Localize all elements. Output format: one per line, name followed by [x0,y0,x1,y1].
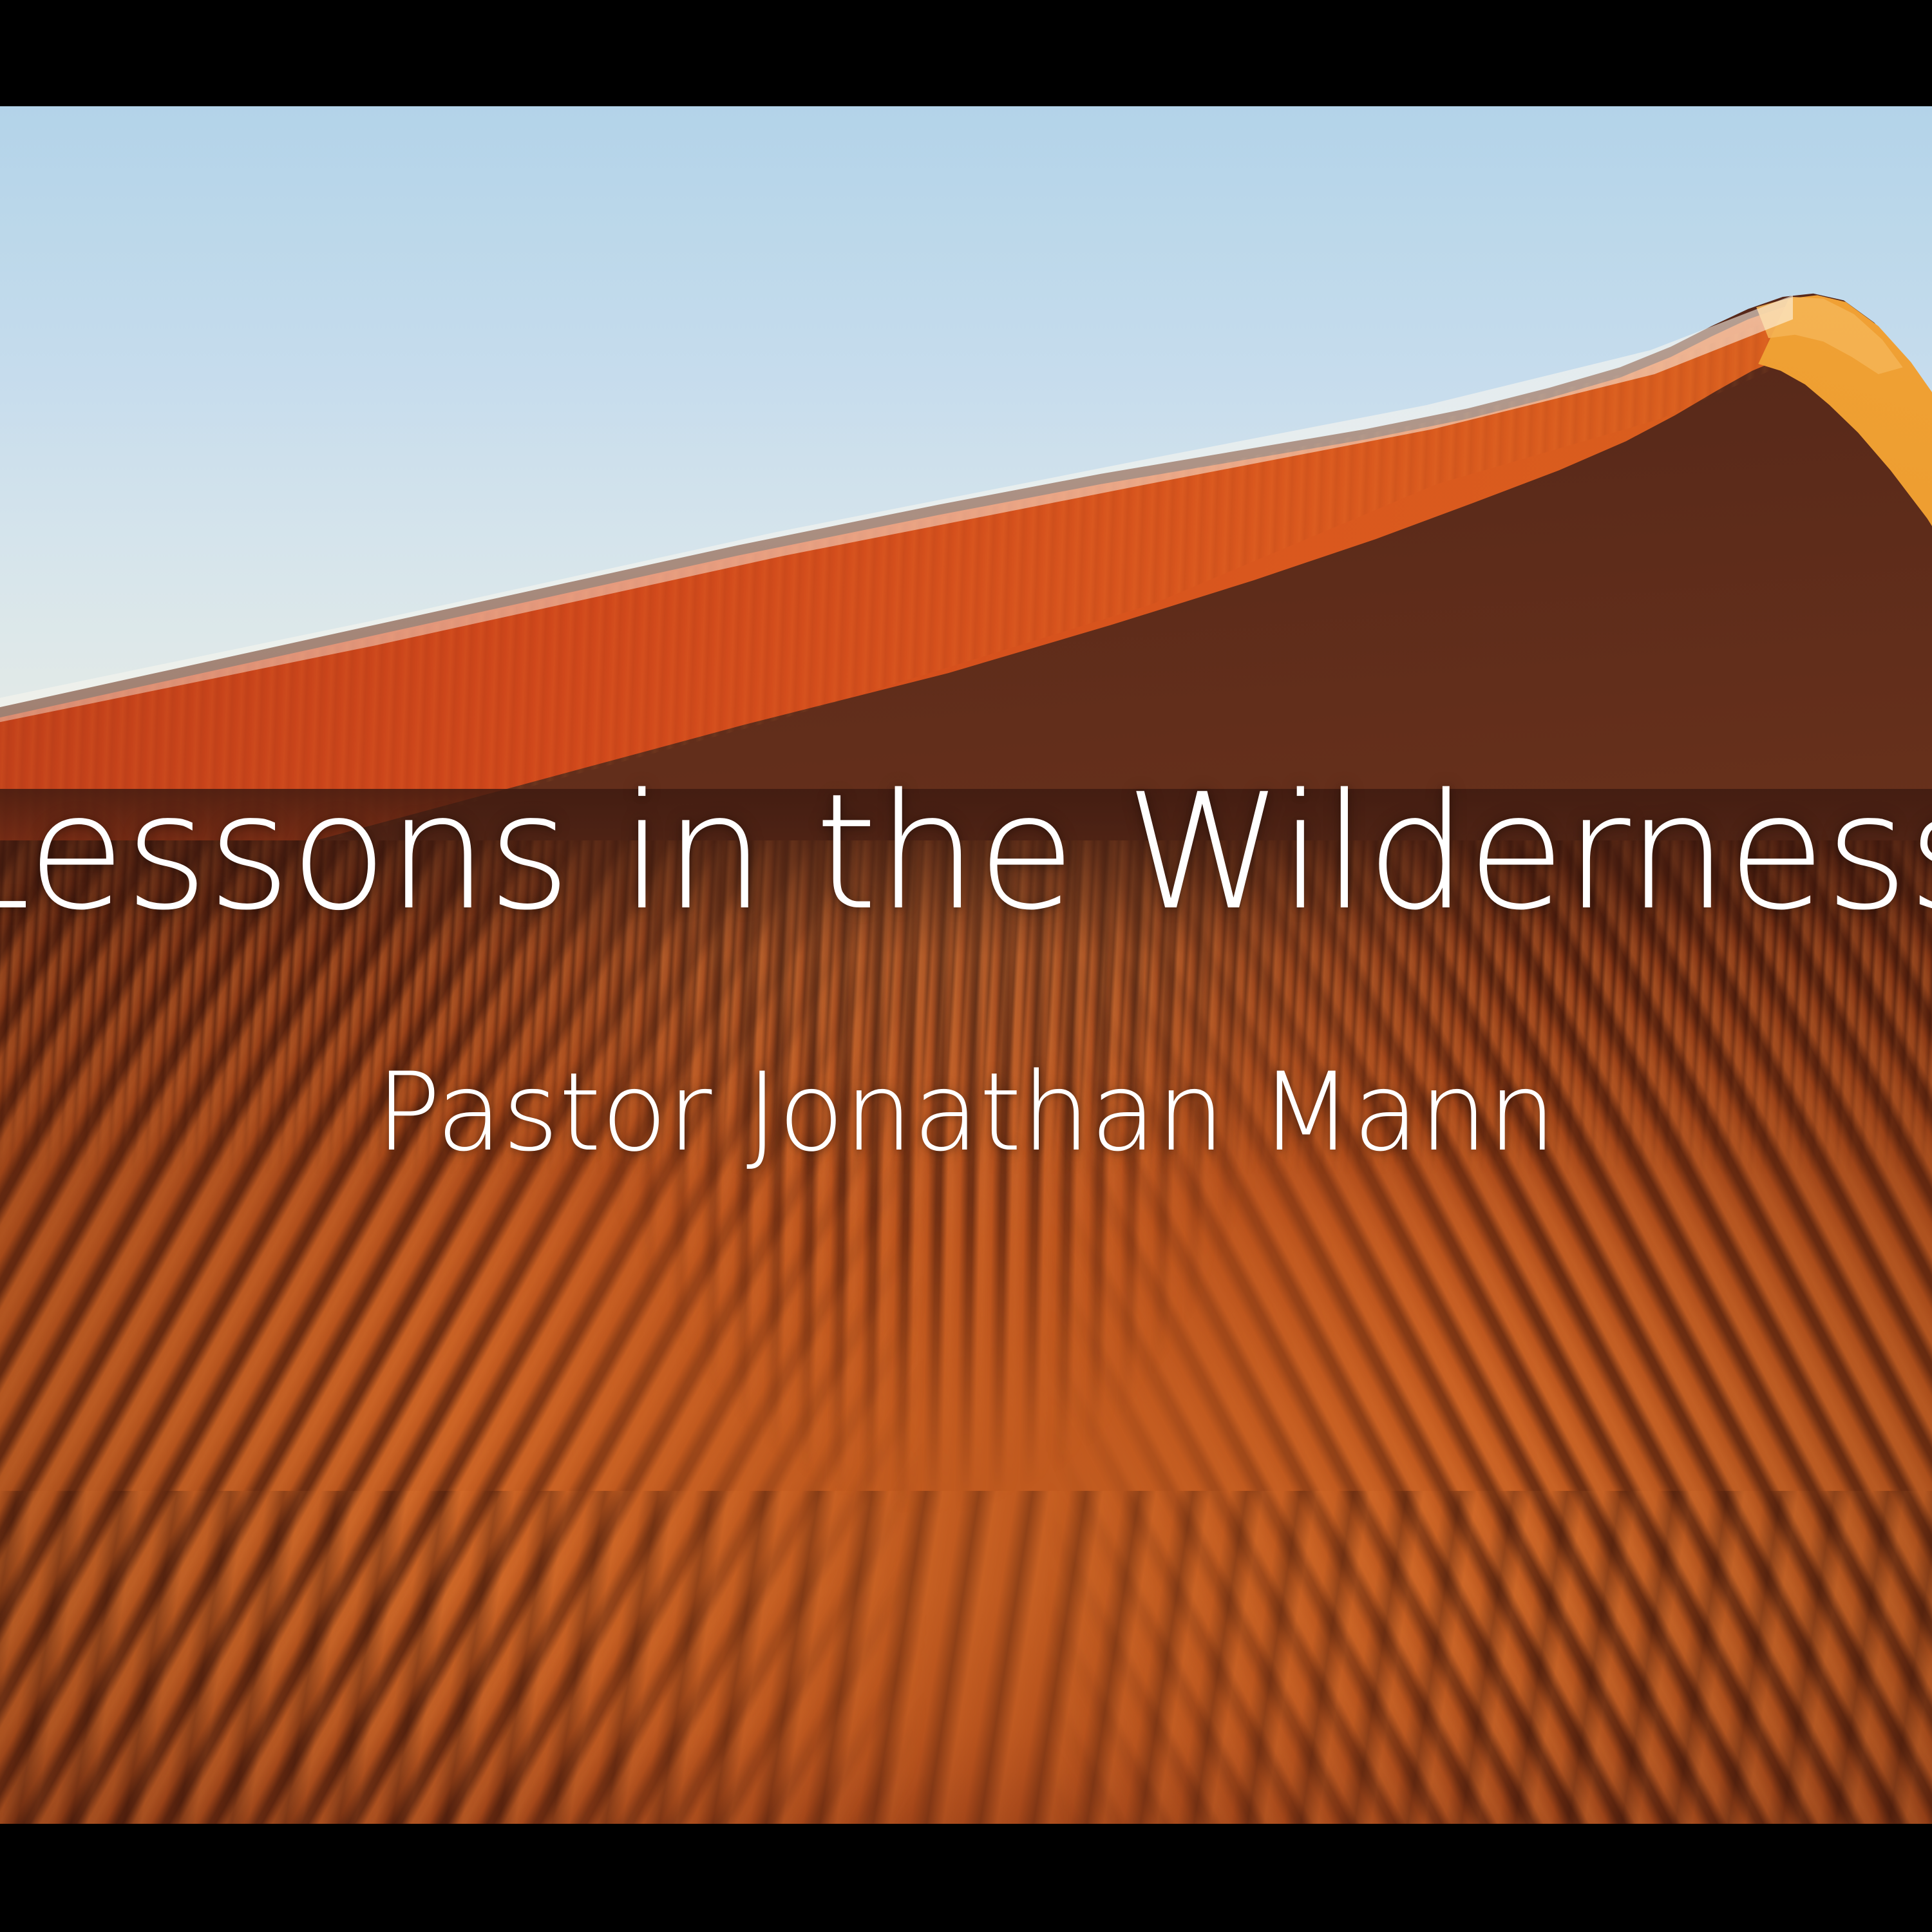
sand-light-wash [0,840,1932,1824]
slide-subtitle: Pastor Jonathan Mann [375,1058,1556,1166]
slide-title: Lessons in the Wilderness [0,773,1932,933]
letterbox-bar-bottom [0,1824,1932,1932]
slide-background-photo [0,106,1932,1824]
letterbox-bar-top [0,0,1932,106]
video-frame: Lessons in the Wilderness Pastor Jonatha… [0,0,1932,1932]
